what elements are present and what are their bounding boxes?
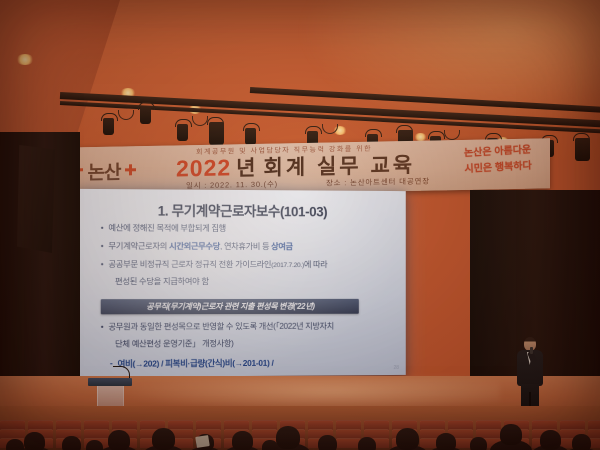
slide-bullet: 편성된 수당을 지급하여야 함: [115, 277, 396, 287]
banner-place: 장소 : 논산아트센터 대공연장: [326, 176, 430, 189]
bullet-marker-icon: •: [101, 223, 104, 233]
slide-section-bar: 공무직(무기계약)근로자 관련 지출 편성목 변경('22년): [101, 299, 359, 314]
slide-bullet: 단체 예산편성 운영기준」 개정사항): [115, 339, 396, 351]
handheld-microphone-icon: [530, 347, 533, 354]
slide-bullet: •무기계약근로자의 시간외근무수당, 연차휴가비 등 상여금: [101, 241, 396, 252]
slide-bullet-text: 무기계약근로자의 시간외근무수당, 연차휴가비 등 상여금: [108, 241, 292, 252]
audience-member-head: [396, 428, 419, 450]
banner-year: 2022: [176, 154, 231, 182]
audience-member-head: [262, 440, 278, 450]
downlight: [16, 54, 34, 65]
audience-member-head: [318, 435, 337, 450]
audience-member-head: [470, 437, 487, 450]
projection-screen: 1. 무기계약근로자보수(101-03) •예산에 정해진 목적에 부합되게 집…: [76, 189, 406, 377]
slide-bullet-text: 예산에 정해진 목적에 부합되게 집행: [108, 223, 226, 234]
bullet-marker-icon: •: [101, 241, 104, 251]
audience-member-head: [24, 432, 45, 450]
city-logo-label: 논산: [88, 157, 121, 185]
slide-bullet-list: •예산에 정해진 목적에 부합되게 집행•무기계약근로자의 시간외근무수당, 연…: [101, 223, 396, 287]
ceiling: [0, 0, 600, 160]
bullet-marker-icon: •: [101, 322, 104, 332]
audience-member-head: [232, 431, 253, 450]
slide-bullet-text: 공공부문 비정규직 근로자 정규직 전환 가이드라인(2017.7.20.)에 …: [108, 259, 327, 270]
bullet-marker-icon: •: [101, 259, 104, 270]
stage-lamp: [575, 138, 590, 161]
logo-mark2-icon: [125, 164, 136, 175]
audience-member-head: [108, 430, 130, 450]
stage-lamp: [209, 122, 224, 145]
slide-sub-item: -여비(→202) / 피복비·급량(간식)비(→201-01) /: [110, 356, 396, 370]
audience-member-head: [86, 440, 103, 450]
audience-member-head: [500, 424, 522, 445]
slide-body: •예산에 정해진 목적에 부합되게 집행•무기계약근로자의 시간외근무수당, 연…: [101, 223, 396, 377]
audience-member-head: [540, 430, 561, 450]
audience-member-head: [6, 439, 24, 450]
presenter-with-microphone: [513, 337, 547, 415]
slide-sub-item-list: -여비(→202) / 피복비·급량(간식)비(→201-01) / 4대 보험…: [101, 356, 396, 377]
slide-title: 1. 무기계약근로자보수(101-03): [76, 199, 406, 221]
audience-member-head: [436, 433, 456, 450]
audience-member-head: [276, 426, 300, 449]
audience-area: [0, 406, 600, 450]
slide-bullet: •공무원과 동일한 편성목으로 반영할 수 있도록 개선(「2022년 지방자치: [101, 321, 396, 332]
ceiling-soffit: [0, 0, 120, 150]
audience-member-head: [152, 428, 175, 450]
audience-member-head: [62, 436, 81, 450]
audience-member-head: [358, 437, 376, 450]
slide-bullet: •예산에 정해진 목적에 부합되게 집행: [101, 223, 396, 234]
audience-handout: [195, 435, 210, 448]
banner-year-suffix: 년: [236, 152, 258, 182]
city-slogan: 논산은 아름다운 시민은 행복하다: [451, 142, 544, 187]
photo-scene: 논산 회계공무원 및 사업담당자 직무능력 강화를 위한 2022 년 회계 실…: [0, 0, 600, 450]
sub-item-text: 여비(→202) / 피복비·급량(간식)비(→201-01) /: [118, 357, 274, 370]
slide-bullet-text: 단체 예산편성 운영기준」 개정사항): [115, 340, 234, 351]
slide-section-bar-label: 공무직(무기계약)근로자 관련 지출 편성목 변경('22년): [146, 301, 314, 312]
audience-member-head: [572, 434, 591, 450]
stage-lamp: [245, 128, 256, 145]
stage-lamp: [177, 124, 188, 141]
line-array-speaker: [17, 145, 55, 253]
slide-bullet: •공공부문 비정규직 근로자 정규직 전환 가이드라인(2017.7.20.)에…: [101, 259, 396, 270]
slide-bullet-text: 공무원과 동일한 편성목으로 반영할 수 있도록 개선(「2022년 지방자치: [108, 321, 333, 332]
lectern-top: [88, 378, 132, 386]
slide-bullet-text: 편성된 수당을 지급하여야 함: [115, 277, 209, 287]
stage-lamp: [103, 118, 114, 135]
stage-lamp: [140, 107, 151, 124]
slide-page-number: 28: [394, 365, 399, 371]
slide-section-bullet-list: •공무원과 동일한 편성목으로 반영할 수 있도록 개선(「2022년 지방자치…: [101, 321, 396, 350]
